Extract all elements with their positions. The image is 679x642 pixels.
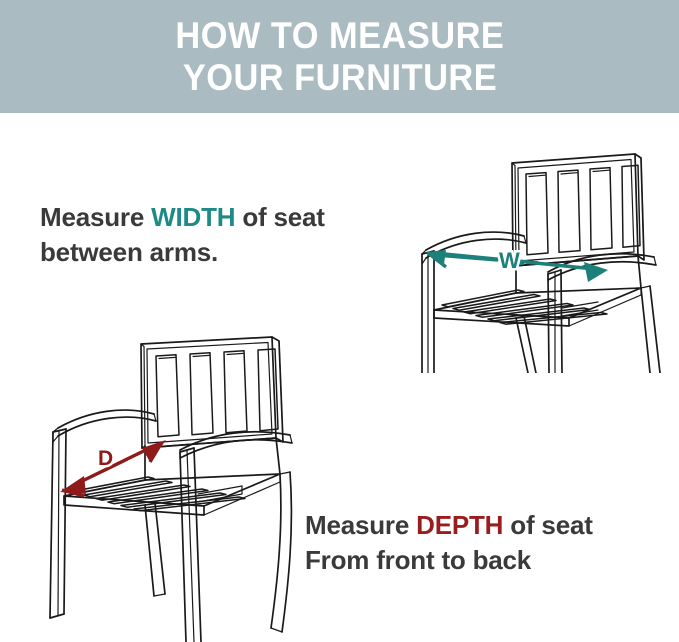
infographic-page: HOW TO MEASURE YOUR FURNITURE Measure WI… xyxy=(0,0,679,642)
width-keyword: WIDTH xyxy=(151,202,235,232)
width-caption-prefix: Measure xyxy=(40,202,151,232)
chair-seat-depth xyxy=(64,474,280,515)
header-banner: HOW TO MEASURE YOUR FURNITURE xyxy=(0,0,679,113)
width-caption-line-1: Measure WIDTH of seat xyxy=(40,200,325,235)
chair-back-slats xyxy=(526,165,640,255)
chair-left-front-post-depth xyxy=(50,429,66,618)
depth-dimension-arrow: D D xyxy=(60,440,166,496)
chair-back-slats-depth xyxy=(156,349,278,437)
chair-right-front-post xyxy=(548,270,562,373)
chair-right-rear-leg xyxy=(641,286,660,373)
width-dimension-label: W xyxy=(499,248,520,273)
chair-left-front-post xyxy=(422,251,434,373)
depth-caption-line-1: Measure DEPTH of seat xyxy=(305,508,593,543)
chair-right-rear-leg-depth xyxy=(271,472,291,632)
depth-caption-line-2: From front to back xyxy=(305,543,593,578)
depth-dimension-label: D xyxy=(98,447,113,470)
chair-left-rear-leg-depth xyxy=(145,503,165,596)
width-dimension-arrow: W W xyxy=(426,248,608,282)
depth-caption-prefix: Measure xyxy=(305,510,416,540)
chair-seat-slats-depth xyxy=(72,477,245,511)
depth-keyword: DEPTH xyxy=(416,510,503,540)
banner-title-line-1: HOW TO MEASURE xyxy=(175,15,504,57)
width-caption-line-2: between arms. xyxy=(40,235,325,270)
banner-title-line-2: YOUR FURNITURE xyxy=(182,57,496,99)
chair-width-illustration: W W xyxy=(398,138,670,373)
width-caption: Measure WIDTH of seat between arms. xyxy=(40,200,325,270)
depth-caption: Measure DEPTH of seat From front to back xyxy=(305,508,593,578)
depth-caption-suffix: of seat xyxy=(503,510,592,540)
chair-depth-illustration: D D xyxy=(28,328,318,642)
chair-left-arm-depth xyxy=(53,410,156,442)
width-caption-suffix: of seat xyxy=(235,202,324,232)
